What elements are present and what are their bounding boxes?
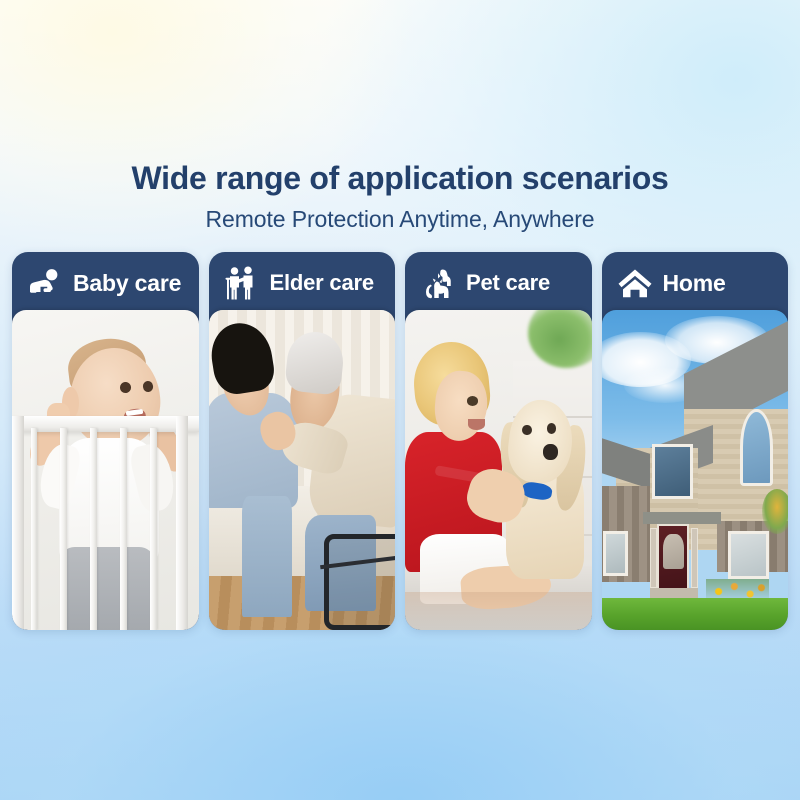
card-header-home: Home	[602, 252, 789, 314]
crawling-baby-icon	[26, 265, 64, 301]
card-label-baby-care: Baby care	[73, 270, 181, 297]
card-label-elder-care: Elder care	[270, 270, 374, 296]
card-photo-baby-care	[12, 310, 199, 630]
scenario-card-home[interactable]: Home	[602, 252, 789, 630]
scenario-card-pet-care[interactable]: Pet care	[405, 252, 592, 630]
card-photo-pet-care	[405, 310, 592, 630]
house-icon	[616, 265, 654, 301]
card-header-baby-care: Baby care	[12, 252, 199, 314]
elder-with-caregiver-icon	[223, 265, 261, 301]
card-header-pet-care: Pet care	[405, 252, 592, 314]
card-photo-home	[602, 310, 789, 630]
card-label-home: Home	[663, 270, 726, 297]
page-title: Wide range of application scenarios	[0, 156, 800, 200]
application-scenarios-banner: Wide range of application scenarios Remo…	[0, 0, 800, 800]
page-subtitle: Remote Protection Anytime, Anywhere	[0, 202, 800, 236]
scenario-card-elder-care[interactable]: Elder care	[209, 252, 396, 630]
card-photo-elder-care	[209, 310, 396, 630]
scenario-card-row: Baby care	[12, 252, 788, 630]
card-label-pet-care: Pet care	[466, 270, 550, 296]
scenario-card-baby-care[interactable]: Baby care	[12, 252, 199, 630]
card-header-elder-care: Elder care	[209, 252, 396, 314]
heading-block: Wide range of application scenarios Remo…	[0, 156, 800, 236]
dog-and-cat-icon	[419, 265, 457, 301]
